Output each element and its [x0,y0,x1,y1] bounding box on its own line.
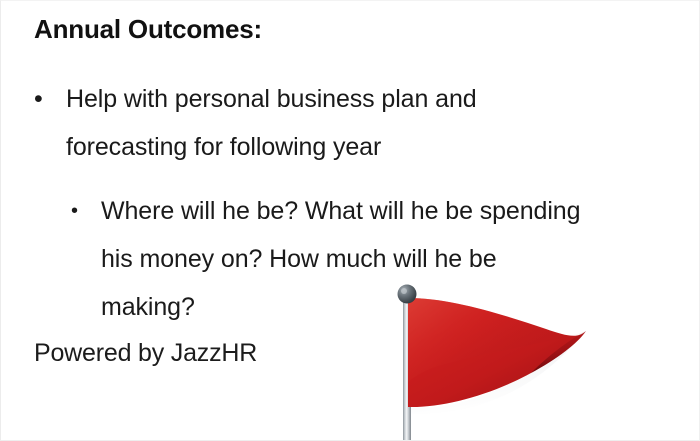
list-item-line: forecasting for following year [66,123,654,171]
bullet-marker-icon: • [71,187,97,235]
list-item-text: Help with personal business plan and for… [66,75,654,171]
list-item-line: Help with personal business plan and [66,75,654,123]
list-item-nested: • Where will he be? What will he be spen… [71,187,671,331]
page-title: Annual Outcomes: [34,15,262,44]
slide-canvas: Annual Outcomes: • Help with personal bu… [0,0,700,441]
list-item-text: Where will he be? What will he be spendi… [101,187,671,331]
powered-by-label: Powered by JazzHR [34,339,257,368]
bullet-marker-icon: • [34,75,62,123]
list-item-line: Where will he be? What will he be spendi… [101,187,671,235]
list-item-line: his money on? How much will he be [101,235,671,283]
list-item: • Help with personal business plan and f… [34,75,654,171]
list-item-line: making? [101,283,671,331]
